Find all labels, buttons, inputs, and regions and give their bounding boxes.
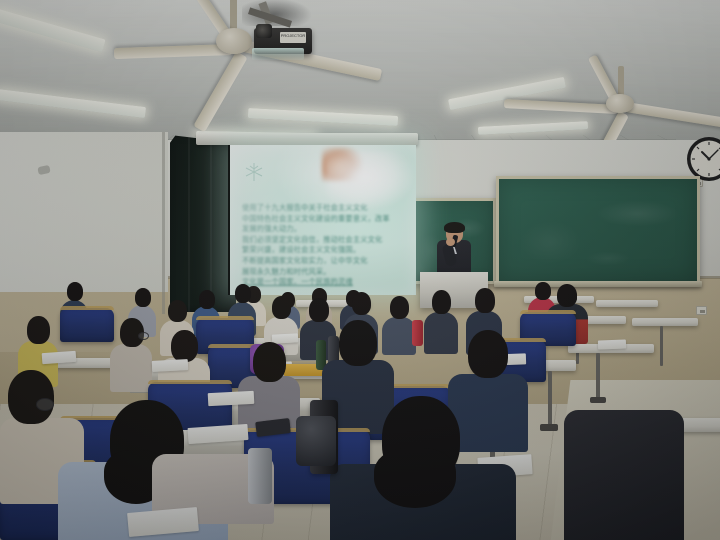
slide-line: 我们必须坚定文化自信，推动社会主义文化 [242, 235, 410, 246]
student-head [135, 288, 151, 307]
student-head [309, 298, 329, 322]
notebook[interactable] [152, 359, 189, 372]
notebook[interactable] [598, 340, 626, 350]
notebook[interactable] [42, 351, 77, 364]
student-head [557, 284, 577, 307]
student-head [432, 290, 451, 314]
student-head [8, 370, 54, 424]
student [330, 396, 516, 540]
student-head [171, 330, 198, 362]
pencil-case[interactable] [296, 416, 336, 466]
chalkboard-right-panel [496, 176, 700, 284]
slide-line: 不断提高国家文化软实力，让中华文化 [242, 256, 410, 267]
desk [632, 318, 698, 326]
slide-text-block: 使用了十九大报告中关于社会主义文化 中国特色社会主义文化建设的重要意义，改革 发… [242, 203, 410, 288]
wall-outlet[interactable] [696, 306, 707, 315]
student-body [564, 410, 684, 540]
projector-light-glow [252, 48, 304, 60]
water-bottle-red[interactable] [412, 320, 423, 346]
ceiling-projector: PROJECTOR [246, 8, 312, 62]
student-head [475, 288, 495, 313]
fan-rod [230, 0, 237, 30]
thermos-steel[interactable] [248, 448, 272, 504]
student-head [253, 342, 286, 382]
slide-line: 发展的强大动力。 [242, 224, 410, 235]
student-head [199, 290, 215, 309]
projection-screen[interactable]: 使用了十九大报告中关于社会主义文化 中国特色社会主义文化建设的重要意义，改革 发… [228, 145, 416, 295]
student-body [110, 344, 152, 392]
desk-leg [660, 326, 663, 366]
student [18, 316, 58, 378]
eyeglasses-icon [36, 398, 54, 411]
classroom-photo: PROJECTOR [0, 0, 720, 540]
projector-label: PROJECTOR [280, 32, 306, 43]
lecturer-hand [446, 238, 455, 246]
student-head [339, 320, 377, 366]
blackout-curtain[interactable] [170, 132, 236, 312]
snowflake-ornament-icon [244, 161, 264, 183]
slide-line: 中国特色社会主义文化建设的重要意义，改革 [242, 214, 410, 225]
chalk-tray [494, 281, 702, 287]
student [564, 390, 684, 540]
student-head [168, 300, 187, 322]
projection-screen-roller [196, 133, 418, 145]
wall-corner-seam [162, 132, 165, 314]
slide-line: 展现永久魅力和时代风采。 [242, 267, 410, 278]
eyeglasses-icon [138, 332, 149, 340]
fan-rod [618, 66, 624, 96]
lecturer-hair [444, 222, 465, 233]
desk-leg [548, 371, 552, 427]
student [110, 318, 152, 382]
student-hair [374, 448, 456, 508]
student-head [352, 292, 371, 315]
slide-line: 繁荣兴盛，建设社会主义文化强国。 [242, 245, 410, 256]
student-head [468, 330, 508, 378]
student-head [27, 316, 50, 344]
desk-foot [540, 424, 558, 431]
student-head [67, 282, 83, 301]
student-head [272, 296, 291, 319]
student-head [235, 284, 251, 303]
projector-hotspot [326, 151, 412, 207]
slide-line: 文化是一个国家、一个民族的灵魂 [242, 277, 410, 288]
projector-lens-icon [256, 24, 272, 38]
desk [596, 300, 658, 307]
fan-hub [606, 94, 634, 113]
student-head [390, 296, 409, 319]
ceiling-fan-right [616, 88, 624, 96]
ceiling-fan-left [228, 4, 238, 14]
chair[interactable] [60, 308, 114, 342]
